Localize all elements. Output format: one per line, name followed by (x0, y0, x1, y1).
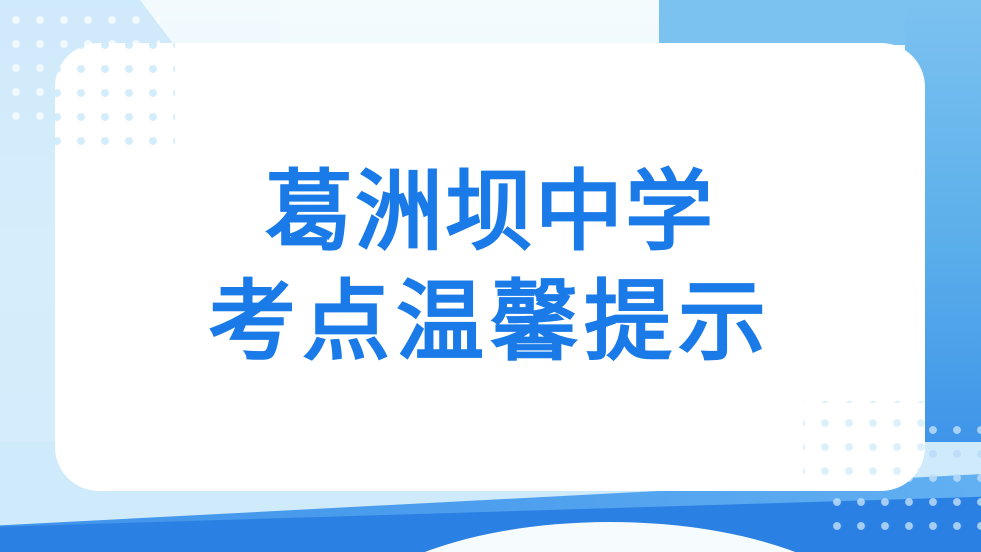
poster-title-line-2: 考点温馨提示 (208, 271, 772, 373)
headline-block: 葛洲坝中学 考点温馨提示 (55, 43, 925, 491)
poster-title-line-1: 葛洲坝中学 (265, 161, 715, 263)
content-card: 葛洲坝中学 考点温馨提示 (55, 43, 925, 491)
poster-canvas: 葛洲坝中学 考点温馨提示 (0, 0, 981, 552)
